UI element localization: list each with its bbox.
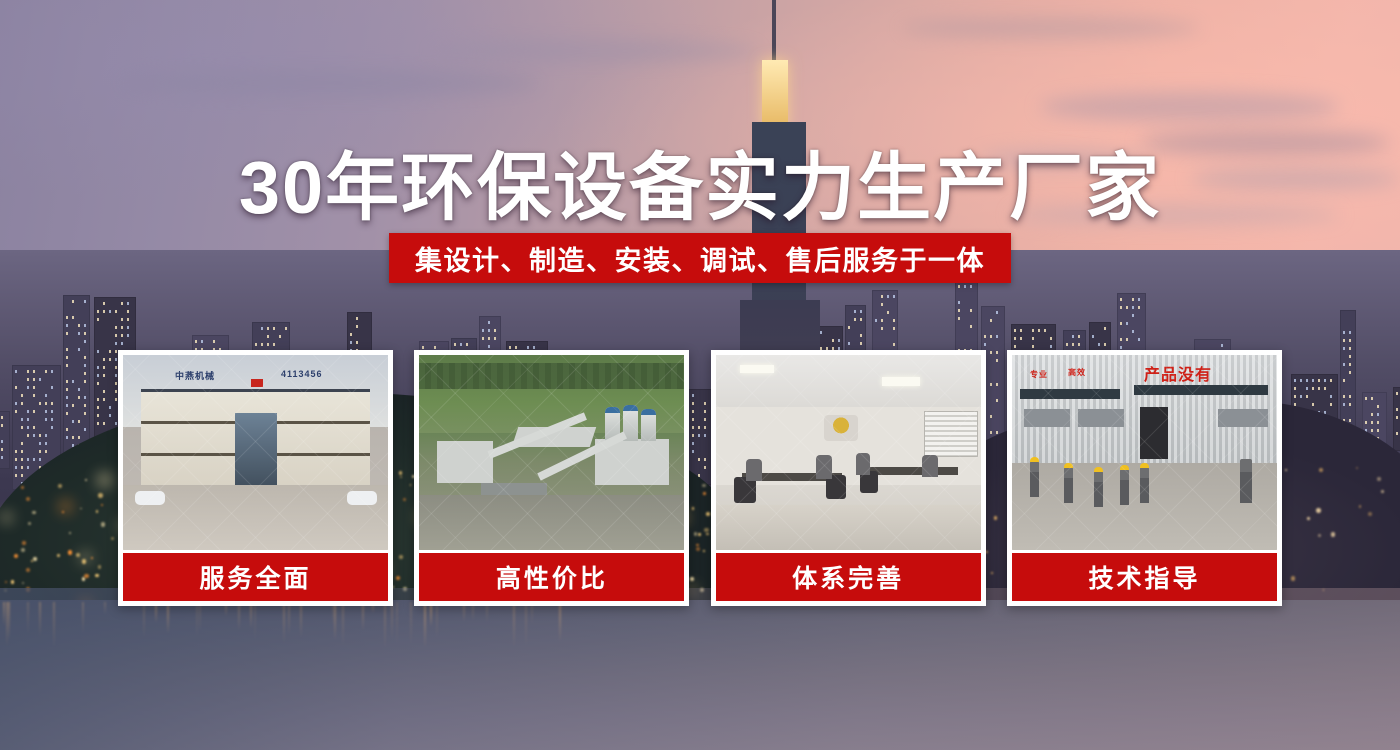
water-reflection <box>8 602 10 640</box>
card-label-3: 体系完善 <box>716 553 981 601</box>
shore-light <box>91 557 93 559</box>
water-reflection <box>283 602 285 643</box>
water-reflection <box>196 602 198 638</box>
shore-light <box>1368 512 1372 516</box>
subtitle-banner: 集设计、制造、安装、调试、售后服务于一体 <box>389 233 1011 283</box>
water-reflection <box>362 602 364 631</box>
shore-light <box>1318 534 1321 537</box>
river-haze <box>0 588 1400 750</box>
shore-light <box>22 541 25 544</box>
water-reflection <box>238 602 240 631</box>
water-reflection <box>513 602 515 648</box>
card-label-text: 高性价比 <box>496 559 608 595</box>
card-label-text: 服务全面 <box>199 559 311 595</box>
feature-card-list: 中燕机械 4113456 服务全面 <box>118 350 1282 606</box>
water-reflection <box>199 602 201 632</box>
card-label-text: 技术指导 <box>1088 559 1200 595</box>
water-reflection <box>300 602 302 638</box>
water-reflection <box>391 602 393 640</box>
skyline-building <box>1393 387 1400 451</box>
water-reflection <box>143 602 145 639</box>
feature-card-1[interactable]: 中燕机械 4113456 服务全面 <box>118 350 393 606</box>
water-reflection <box>396 602 398 646</box>
water-reflection <box>27 602 29 634</box>
feature-card-3[interactable]: 体系完善 <box>711 350 986 606</box>
shore-light <box>62 511 64 513</box>
water-reflection <box>53 602 55 649</box>
shore-light <box>11 580 15 584</box>
card-label-text: 体系完善 <box>792 559 904 595</box>
shore-light <box>82 559 86 563</box>
card-photo-office-building: 中燕机械 4113456 <box>123 355 388 550</box>
water-reflection <box>39 602 41 637</box>
shore-light <box>80 508 82 510</box>
photo-signage-text: 中燕机械 <box>175 369 215 382</box>
cloud <box>430 40 760 62</box>
photo-signage-text: 产品没有 <box>1144 361 1212 385</box>
shore-light <box>1359 505 1362 508</box>
shore-light <box>1285 469 1287 471</box>
shore-light <box>1381 490 1384 493</box>
shore-light <box>69 532 71 534</box>
shore-light <box>95 574 98 577</box>
shore-light <box>28 522 31 525</box>
feature-card-2[interactable]: 高性价比 <box>414 350 689 606</box>
water-reflection <box>334 602 336 641</box>
card-photo-plant-aerial <box>419 355 684 550</box>
card-photo-workshop-briefing: 产品没有 专业 高效 <box>1012 355 1277 550</box>
shore-light <box>14 554 18 558</box>
cloud <box>1040 92 1340 122</box>
feature-card-4[interactable]: 产品没有 专业 高效 技术指导 <box>1007 350 1282 606</box>
water-reflection <box>82 602 84 634</box>
water-reflection <box>410 602 412 646</box>
shore-light <box>101 522 105 526</box>
water-reflection <box>342 602 344 646</box>
water-reflection <box>254 602 256 641</box>
water-reflection <box>559 602 561 642</box>
skyline-building <box>0 411 10 469</box>
water-reflection <box>384 602 386 649</box>
hero-banner: 30年环保设备实力生产厂家 集设计、制造、安装、调试、售后服务于一体 中燕机械 … <box>0 0 1400 750</box>
shore-light <box>98 493 102 497</box>
page-title: 30年环保设备实力生产厂家 <box>0 128 1400 235</box>
water-reflection <box>424 602 426 648</box>
card-label-2: 高性价比 <box>419 553 684 601</box>
shore-light <box>1331 532 1335 536</box>
cloud <box>120 70 540 96</box>
shore-light <box>5 581 7 583</box>
photo-phone-text: 4113456 <box>281 369 323 379</box>
shore-light <box>57 554 60 557</box>
water-reflection <box>3 602 5 626</box>
shore-light <box>84 574 88 578</box>
shore-light <box>1316 508 1321 513</box>
water-reflection <box>436 602 438 640</box>
card-label-4: 技术指导 <box>1012 553 1277 601</box>
water-reflection <box>525 602 527 647</box>
card-label-1: 服务全面 <box>123 553 388 601</box>
water-reflection <box>288 602 290 636</box>
water-reflection <box>104 602 106 615</box>
shore-light <box>96 510 98 512</box>
subtitle-text: 集设计、制造、安装、调试、售后服务于一体 <box>415 239 985 278</box>
shore-light <box>33 557 36 560</box>
cloud <box>900 18 1200 38</box>
card-photo-office-interior <box>716 355 981 550</box>
shore-light <box>68 550 72 554</box>
tower-crown-lights <box>762 60 788 128</box>
shore-light <box>1307 517 1310 520</box>
water-reflection <box>167 602 169 634</box>
